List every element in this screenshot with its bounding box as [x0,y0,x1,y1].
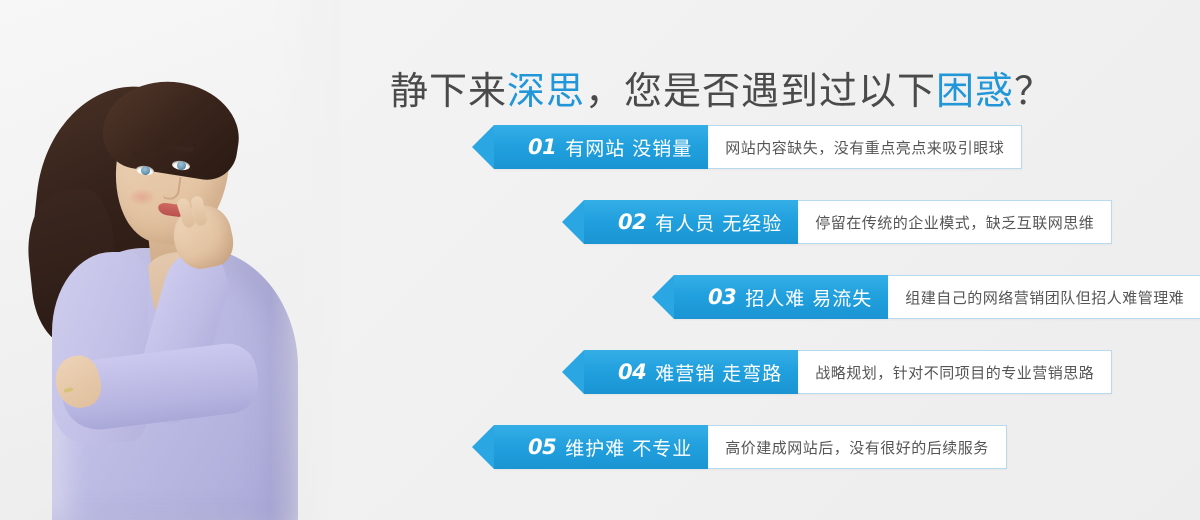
iris-right [176,160,186,170]
problem-row[interactable]: 01 有网站 没销量 网站内容缺失，没有重点亮点来吸引眼球 [494,125,1022,169]
problem-row[interactable]: 02 有人员 无经验 停留在传统的企业模式，缺乏互联网思维 [584,200,1112,244]
problem-tag-label: 维护难 不专业 [565,434,692,461]
title-part-1: 静下来 [390,69,507,113]
problem-tag-label: 难营销 走弯路 [655,359,782,386]
problem-number: 02 [618,210,646,234]
problem-tag-label: 有人员 无经验 [655,209,782,236]
iris-left [140,165,150,175]
problem-tag[interactable]: 05 维护难 不专业 [494,425,708,469]
problem-tag[interactable]: 03 招人难 易流失 [674,275,888,319]
problem-tag-label: 招人难 易流失 [745,284,872,311]
thinking-woman-photo [0,0,340,520]
problem-description: 战略规划，针对不同项目的专业营销思路 [798,350,1112,394]
title-highlight-2: 困惑 [936,69,1014,113]
problem-description: 组建自己的网络营销团队但招人难管理难 [888,275,1200,319]
problem-number: 04 [618,360,646,384]
problem-tag-label: 有网站 没销量 [565,134,692,161]
problem-description: 网站内容缺失，没有重点亮点来吸引眼球 [708,125,1022,169]
problem-number: 01 [528,135,556,159]
banner-stage: 静下来深思，您是否遇到过以下困惑？ 01 有网站 没销量 网站内容缺失，没有重点… [0,0,1200,520]
problem-description: 高价建成网站后，没有很好的后续服务 [708,425,1007,469]
problem-row[interactable]: 05 维护难 不专业 高价建成网站后，没有很好的后续服务 [494,425,1007,469]
problem-number: 03 [708,285,736,309]
page-title: 静下来深思，您是否遇到过以下困惑？ [390,67,1053,115]
problem-row[interactable]: 03 招人难 易流失 组建自己的网络营销团队但招人难管理难 [674,275,1200,319]
problem-tag[interactable]: 01 有网站 没销量 [494,125,708,169]
title-highlight-1: 深思 [507,69,585,113]
problem-number: 05 [528,435,556,459]
problem-tag[interactable]: 04 难营销 走弯路 [584,350,798,394]
title-part-3: ？ [1014,69,1053,113]
problem-description: 停留在传统的企业模式，缺乏互联网思维 [798,200,1112,244]
cheek-blush [128,188,156,206]
problem-tag[interactable]: 02 有人员 无经验 [584,200,798,244]
problem-row[interactable]: 04 难营销 走弯路 战略规划，针对不同项目的专业营销思路 [584,350,1112,394]
title-part-2: ，您是否遇到过以下 [585,69,936,113]
photo-edge-fade [270,0,340,520]
